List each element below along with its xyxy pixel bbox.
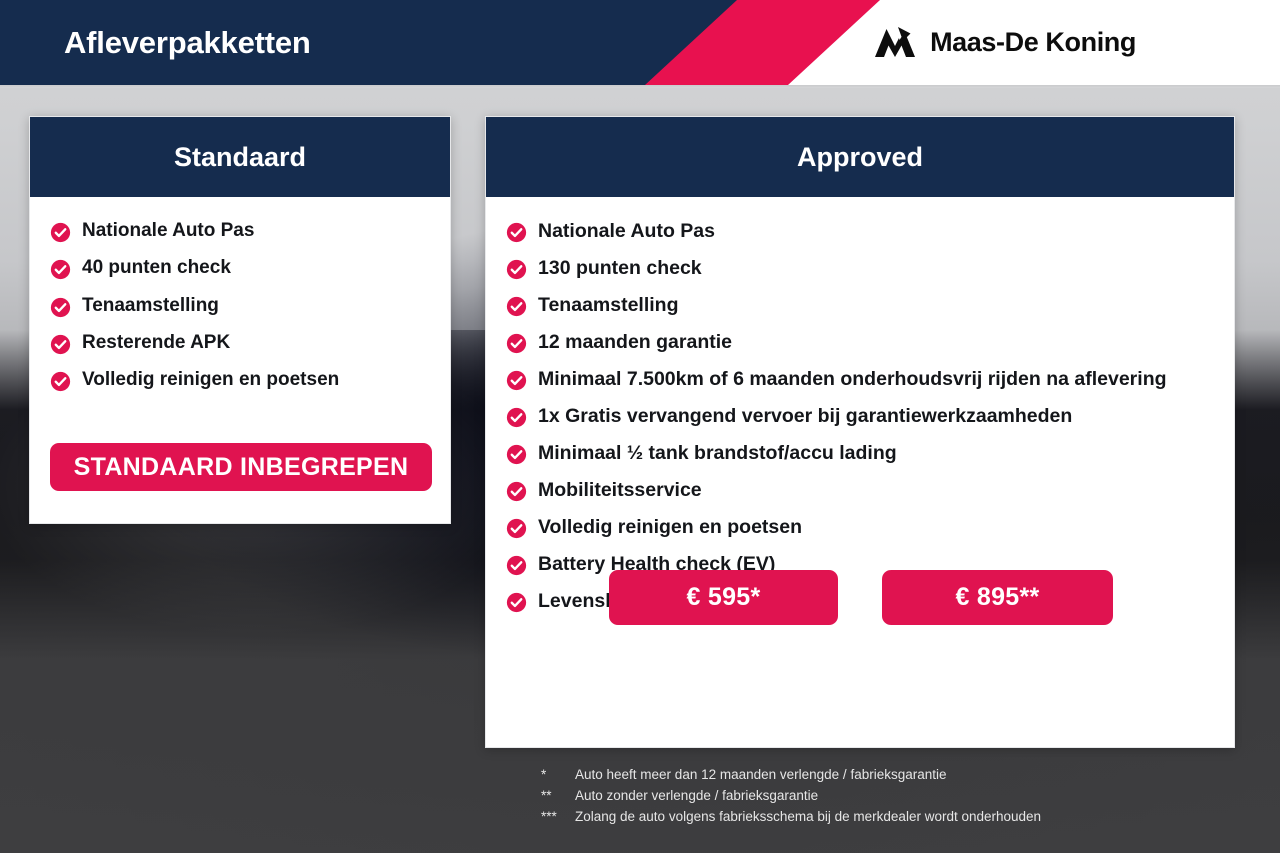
footnote-marker: * [541, 765, 575, 786]
feature-item: Tenaamstelling [486, 293, 1234, 318]
check-circle-icon [50, 371, 71, 392]
feature-item: Volledig reinigen en poetsen [30, 368, 450, 392]
footnote-text: Zolang de auto volgens fabrieksschema bi… [575, 807, 1041, 828]
feature-list-approved: Nationale Auto Pas130 punten checkTenaam… [486, 219, 1234, 613]
maas-m-logo-icon [873, 27, 917, 59]
feature-label: Minimaal ½ tank brandstof/accu lading [538, 441, 897, 466]
card-body-approved: Nationale Auto Pas130 punten checkTenaam… [486, 197, 1234, 747]
check-circle-icon [506, 481, 527, 502]
feature-item: Nationale Auto Pas [486, 219, 1234, 244]
feature-item: 40 punten check [30, 256, 450, 280]
page-title: Afleverpakketten [64, 0, 311, 85]
page-header: Afleverpakketten Maas-De Koning [0, 0, 1280, 85]
feature-label: 40 punten check [82, 256, 231, 280]
header-divider [0, 85, 1280, 88]
check-circle-icon [50, 297, 71, 318]
check-circle-icon [50, 259, 71, 280]
price-button-595[interactable]: € 595* [609, 570, 838, 625]
footnote-marker: *** [541, 807, 575, 828]
check-circle-icon [506, 222, 527, 243]
feature-label: Tenaamstelling [538, 293, 679, 318]
package-card-standaard: Standaard Nationale Auto Pas40 punten ch… [29, 116, 451, 524]
feature-item: 12 maanden garantie [486, 330, 1234, 355]
feature-item: 1x Gratis vervangend vervoer bij garanti… [486, 404, 1234, 429]
feature-item: Nationale Auto Pas [30, 219, 450, 243]
check-circle-icon [506, 296, 527, 317]
price-button-row: € 595* € 895** [486, 570, 1236, 625]
feature-label: Nationale Auto Pas [82, 219, 254, 243]
feature-item: Mobiliteitsservice [486, 478, 1234, 503]
feature-label: Resterende APK [82, 331, 230, 355]
feature-item: Minimaal 7.500km of 6 maanden onderhouds… [486, 367, 1234, 392]
standaard-included-button[interactable]: STANDAARD INBEGREPEN [50, 443, 432, 491]
check-circle-icon [50, 334, 71, 355]
footnote-row: *Auto heeft meer dan 12 maanden verlengd… [541, 765, 1241, 786]
brand-name: Maas-De Koning [930, 27, 1136, 58]
feature-label: 1x Gratis vervangend vervoer bij garanti… [538, 404, 1072, 429]
feature-label: Minimaal 7.500km of 6 maanden onderhouds… [538, 367, 1167, 392]
feature-label: Mobiliteitsservice [538, 478, 702, 503]
footnote-marker: ** [541, 786, 575, 807]
feature-label: Volledig reinigen en poetsen [538, 515, 802, 540]
feature-item: Tenaamstelling [30, 294, 450, 318]
footnote-row: ***Zolang de auto volgens fabrieksschema… [541, 807, 1241, 828]
card-title-standaard: Standaard [30, 117, 450, 197]
footnotes: *Auto heeft meer dan 12 maanden verlengd… [541, 765, 1241, 828]
brand-logo: Maas-De Koning [873, 0, 1136, 85]
feature-label: Volledig reinigen en poetsen [82, 368, 339, 392]
feature-label: 130 punten check [538, 256, 702, 281]
feature-item: 130 punten check [486, 256, 1234, 281]
check-circle-icon [506, 370, 527, 391]
feature-label: 12 maanden garantie [538, 330, 732, 355]
feature-item: Minimaal ½ tank brandstof/accu lading [486, 441, 1234, 466]
feature-item: Volledig reinigen en poetsen [486, 515, 1234, 540]
footnote-text: Auto heeft meer dan 12 maanden verlengde… [575, 765, 947, 786]
feature-label: Tenaamstelling [82, 294, 219, 318]
check-circle-icon [506, 444, 527, 465]
check-circle-icon [50, 222, 71, 243]
card-title-approved: Approved [486, 117, 1234, 197]
footnote-row: **Auto zonder verlengde / fabrieksgarant… [541, 786, 1241, 807]
check-circle-icon [506, 407, 527, 428]
feature-item: Resterende APK [30, 331, 450, 355]
package-card-approved: Approved Nationale Auto Pas130 punten ch… [485, 116, 1235, 748]
check-circle-icon [506, 259, 527, 280]
check-circle-icon [506, 518, 527, 539]
feature-label: Nationale Auto Pas [538, 219, 715, 244]
footnote-text: Auto zonder verlengde / fabrieksgarantie [575, 786, 818, 807]
feature-list-standaard: Nationale Auto Pas40 punten checkTenaams… [30, 219, 450, 393]
check-circle-icon [506, 333, 527, 354]
price-button-895[interactable]: € 895** [882, 570, 1113, 625]
